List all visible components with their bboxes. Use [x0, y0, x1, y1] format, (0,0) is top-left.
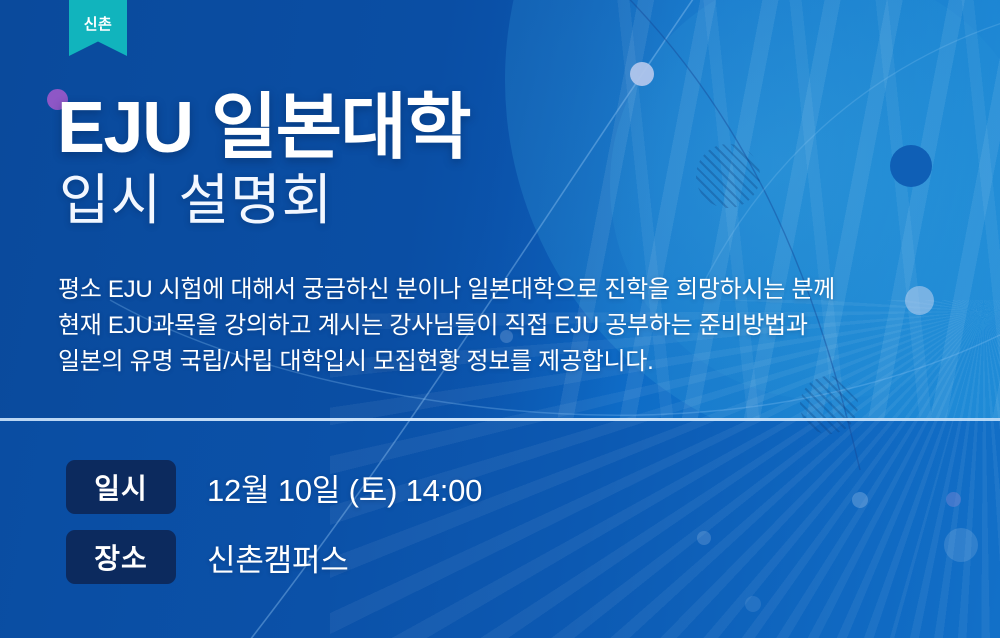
info-label-location: 장소 — [66, 530, 176, 584]
description-line-2: 현재 EJU과목을 강의하고 계시는 강사님들이 직접 EJU 공부하는 준비방… — [58, 308, 835, 344]
event-banner: 신촌 EJU 일본대학 입시 설명회 평소 EJU 시험에 대해서 궁금하신 분… — [0, 0, 1000, 638]
info-row-date: 일시 12월 10일 (토) 14:00 — [66, 460, 482, 514]
banner-content: EJU 일본대학 입시 설명회 평소 EJU 시험에 대해서 궁금하신 분이나 … — [0, 0, 1000, 638]
page-subtitle: 입시 설명회 — [59, 173, 333, 228]
info-label-date: 일시 — [66, 460, 176, 514]
description-line-3: 일본의 유명 국립/사립 대학입시 모집현황 정보를 제공합니다. — [58, 344, 835, 380]
description-line-1: 평소 EJU 시험에 대해서 궁금하신 분이나 일본대학으로 진학을 희망하시는… — [58, 272, 835, 308]
event-info-list: 일시 12월 10일 (토) 14:00 장소 신촌캠퍼스 — [66, 460, 482, 584]
description-text: 평소 EJU 시험에 대해서 궁금하신 분이나 일본대학으로 진학을 희망하시는… — [58, 272, 835, 380]
page-title: EJU 일본대학 — [57, 92, 470, 164]
info-value-date: 12월 10일 (토) 14:00 — [207, 465, 482, 510]
info-value-location: 신촌캠퍼스 — [207, 535, 349, 580]
info-row-location: 장소 신촌캠퍼스 — [66, 530, 482, 584]
